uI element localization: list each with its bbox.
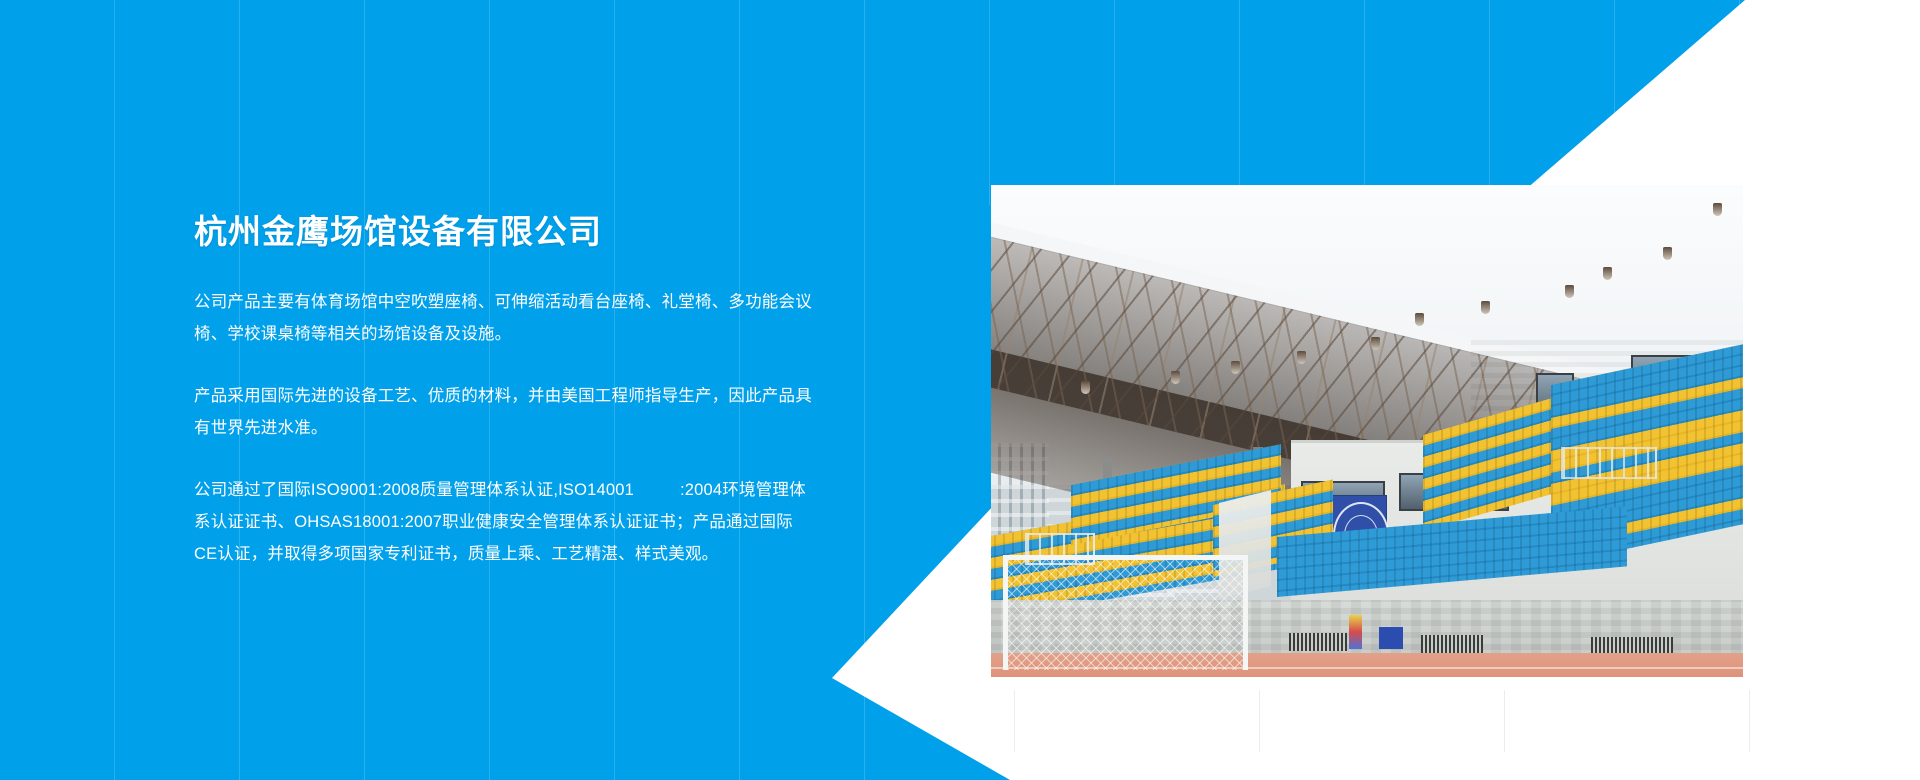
photo-railing bbox=[1561, 447, 1657, 479]
hero-banner: 杭州金鹰场馆设备有限公司 公司产品主要有体育场馆中空吹塑座椅、可伸缩活动看台座椅… bbox=[0, 0, 1920, 780]
grid-line bbox=[1749, 690, 1750, 752]
page-title: 杭州金鹰场馆设备有限公司 bbox=[194, 212, 814, 252]
photo-wall-sign bbox=[1379, 627, 1403, 649]
photo-lamp bbox=[1081, 381, 1090, 394]
photo-lamp bbox=[1713, 203, 1722, 216]
stadium-photo bbox=[991, 185, 1743, 677]
photo-lamp bbox=[1603, 267, 1612, 280]
grid-line bbox=[1259, 690, 1260, 752]
photo-lamp bbox=[1415, 313, 1424, 326]
hero-copy: 杭州金鹰场馆设备有限公司 公司产品主要有体育场馆中空吹塑座椅、可伸缩活动看台座椅… bbox=[194, 212, 814, 570]
intro-paragraph-2: 产品采用国际先进的设备工艺、优质的材料，并由美国工程师指导生产，因此产品具有世界… bbox=[194, 380, 814, 444]
grid-line bbox=[1014, 690, 1015, 752]
photo-lamp bbox=[1171, 371, 1180, 384]
photo-wall-vent bbox=[1289, 633, 1347, 651]
photo-lamp bbox=[1231, 361, 1240, 374]
photo-wall-poster bbox=[1349, 615, 1362, 649]
intro-paragraph-1: 公司产品主要有体育场馆中空吹塑座椅、可伸缩活动看台座椅、礼堂椅、多功能会议椅、学… bbox=[194, 286, 814, 350]
photo-lamp bbox=[1297, 351, 1306, 364]
certification-paragraph: 公司通过了国际ISO9001:2008质量管理体系认证,ISO14001:200… bbox=[194, 474, 814, 570]
grid-line bbox=[1739, 0, 1740, 40]
photo-wall-vent bbox=[1421, 635, 1483, 653]
grid-line bbox=[1504, 690, 1505, 752]
photo-lamp bbox=[1481, 301, 1490, 314]
photo-football-goal bbox=[1003, 555, 1248, 670]
photo-lamp bbox=[1663, 247, 1672, 260]
photo-lamp bbox=[1371, 337, 1380, 350]
certification-text-part-1: 公司通过了国际ISO9001:2008质量管理体系认证,ISO14001 bbox=[194, 481, 634, 499]
photo-lamp bbox=[1565, 285, 1574, 298]
